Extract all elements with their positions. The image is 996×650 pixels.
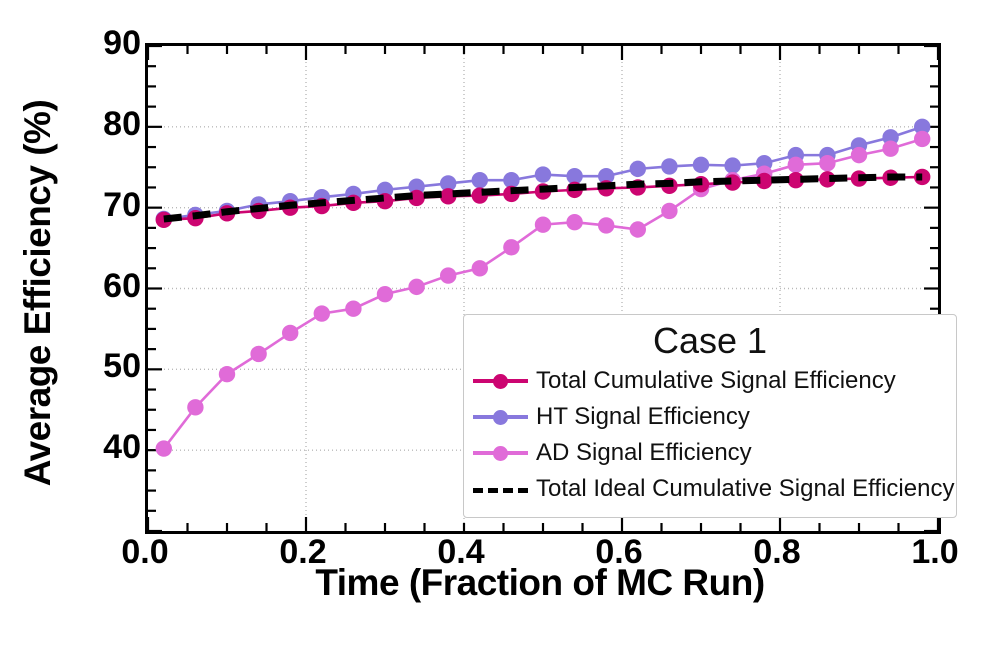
x-tick-label: 0.6 (549, 535, 689, 569)
data-point (598, 217, 614, 233)
y-tick-label: 90 (1, 26, 141, 60)
legend-label: Total Cumulative Signal Efficiency (536, 369, 896, 393)
data-point (219, 366, 235, 382)
legend-swatch-icon (473, 477, 528, 501)
data-point (187, 399, 203, 415)
legend-marker-dot (493, 446, 508, 461)
legend-marker-dot (493, 374, 508, 389)
x-tick-label: 0.8 (707, 535, 847, 569)
legend-label: Total Ideal Cumulative Signal Efficiency (536, 477, 954, 501)
data-point (472, 172, 488, 188)
legend: Case 1 Total Cumulative Signal Efficienc… (463, 314, 957, 518)
x-tick-label: 0.0 (75, 535, 215, 569)
data-point (472, 260, 488, 276)
x-tick-label: 0.4 (391, 535, 531, 569)
data-point (535, 166, 551, 182)
legend-label: AD Signal Efficiency (536, 441, 752, 465)
legend-swatch-icon (473, 369, 528, 393)
data-point (882, 140, 898, 156)
data-point (440, 267, 456, 283)
legend-label: HT Signal Efficiency (536, 405, 750, 429)
series-1 (156, 119, 931, 228)
y-tick-label: 70 (1, 188, 141, 222)
data-point (314, 305, 330, 321)
data-point (282, 325, 298, 341)
x-tick-label: 0.2 (233, 535, 373, 569)
chart-figure: Average Efficiency (%) Time (Fraction of… (0, 0, 996, 650)
data-point (377, 286, 393, 302)
y-tick-label: 80 (1, 107, 141, 141)
data-point (693, 157, 709, 173)
data-point (661, 158, 677, 174)
legend-item-3[interactable]: Total Ideal Cumulative Signal Efficiency (464, 471, 956, 507)
legend-marker-dot (493, 410, 508, 425)
y-tick-label: 60 (1, 269, 141, 303)
legend-swatch-icon (473, 405, 528, 429)
data-point (630, 221, 646, 237)
data-point (408, 279, 424, 295)
data-point (250, 346, 266, 362)
data-point (566, 214, 582, 230)
data-point (156, 440, 172, 456)
data-point (345, 301, 361, 317)
data-point (630, 161, 646, 177)
legend-item-2[interactable]: AD Signal Efficiency (464, 435, 956, 471)
data-point (661, 203, 677, 219)
x-tick-label: 1.0 (865, 535, 996, 569)
legend-item-1[interactable]: HT Signal Efficiency (464, 399, 956, 435)
data-point (788, 157, 804, 173)
data-point (819, 155, 835, 171)
y-tick-label: 50 (1, 349, 141, 383)
y-tick-label: 40 (1, 430, 141, 464)
legend-swatch-icon (473, 441, 528, 465)
data-point (535, 216, 551, 232)
data-point (851, 147, 867, 163)
data-point (724, 157, 740, 173)
data-point (914, 131, 930, 147)
legend-entries: Total Cumulative Signal EfficiencyHT Sig… (464, 363, 956, 507)
data-point (503, 239, 519, 255)
legend-title: Case 1 (464, 319, 956, 363)
x-axis-tick-labels: 0.00.20.40.60.81.0 (0, 535, 996, 583)
legend-item-0[interactable]: Total Cumulative Signal Efficiency (464, 363, 956, 399)
